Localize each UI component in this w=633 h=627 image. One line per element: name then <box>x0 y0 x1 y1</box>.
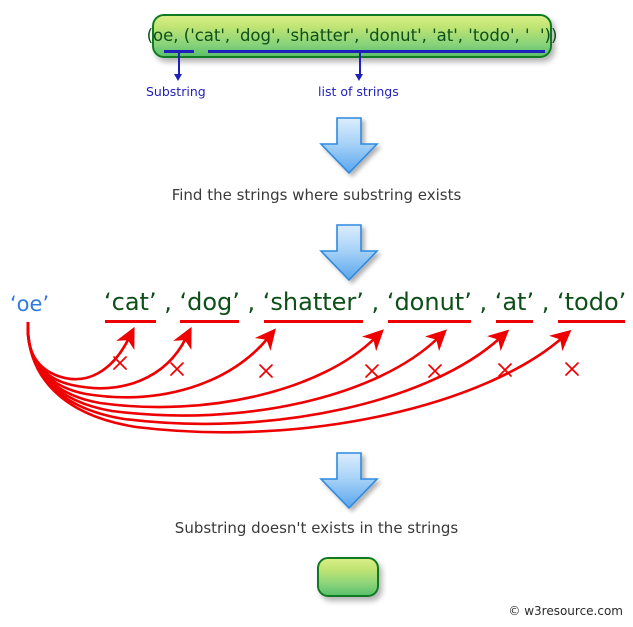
no-match-cross-3 <box>260 365 272 377</box>
no-match-arrow-4 <box>28 322 375 407</box>
down-arrow-icon-3 <box>318 452 380 510</box>
no-match-cross-7 <box>566 363 578 375</box>
result-box <box>317 557 379 597</box>
no-match-cross-5 <box>429 365 441 377</box>
diagram-canvas: (oe, ('cat', 'dog', 'shatter', 'donut', … <box>0 0 633 627</box>
no-match-arrow-3 <box>28 322 268 397</box>
no-match-cross-4 <box>366 365 378 377</box>
no-match-cross-1 <box>114 357 126 369</box>
watermark: © w3resource.com <box>508 604 623 618</box>
no-match-cross-2 <box>171 363 183 375</box>
step2-caption: Substring doesn't exists in the strings <box>0 519 633 537</box>
